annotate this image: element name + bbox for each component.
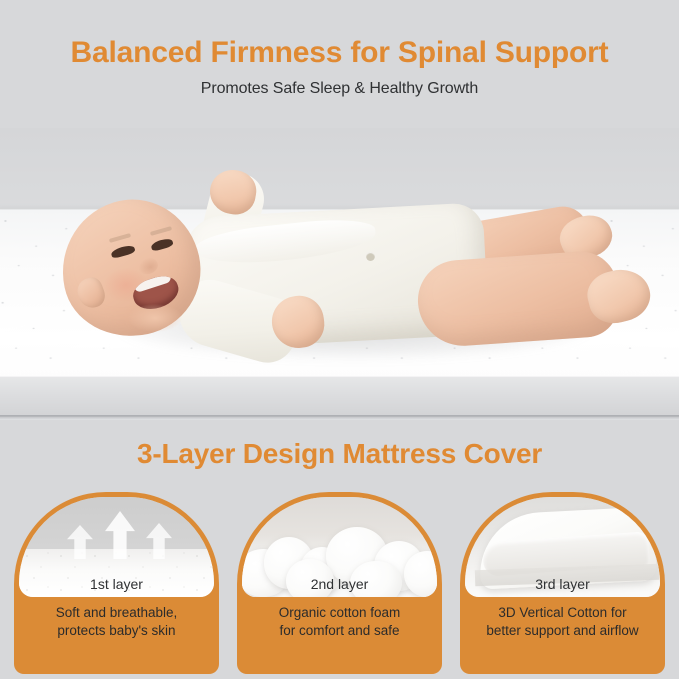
- page-subtitle: Promotes Safe Sleep & Healthy Growth: [0, 80, 679, 98]
- layer-3-image: 3rd layer: [465, 497, 660, 597]
- product-infographic: Balanced Firmness for Spinal Support Pro…: [0, 0, 679, 679]
- baby-chin: [128, 304, 182, 332]
- mattress-drop-shadow: [0, 415, 679, 420]
- layer-1-image: 1st layer: [19, 497, 214, 597]
- page-title: Balanced Firmness for Spinal Support: [0, 36, 679, 70]
- layer-card-3[interactable]: 3rd layer 3D Vertical Cotton for better …: [460, 492, 665, 674]
- layer-cards: 1st layer Soft and breathable, protects …: [14, 492, 665, 674]
- layer-2-label: 2nd layer: [242, 576, 437, 592]
- layer-1-caption: Soft and breathable, protects baby's ski…: [22, 604, 211, 640]
- layer-2-image: 2nd layer: [242, 497, 437, 597]
- layer-card-1[interactable]: 1st layer Soft and breathable, protects …: [14, 492, 219, 674]
- onesie-snap-icon: [366, 252, 375, 261]
- layer-1-label: 1st layer: [19, 576, 214, 592]
- hero-photo: [0, 128, 679, 420]
- layer-2-caption: Organic cotton foam for comfort and safe: [245, 604, 434, 640]
- layer-card-2[interactable]: 2nd layer Organic cotton foam for comfor…: [237, 492, 442, 674]
- mattress-front-face: [0, 376, 679, 417]
- header-section: Balanced Firmness for Spinal Support Pro…: [0, 0, 679, 128]
- layer-3-caption: 3D Vertical Cotton for better support an…: [468, 604, 657, 640]
- layer-3-label: 3rd layer: [465, 576, 660, 592]
- section-title: 3-Layer Design Mattress Cover: [0, 438, 679, 470]
